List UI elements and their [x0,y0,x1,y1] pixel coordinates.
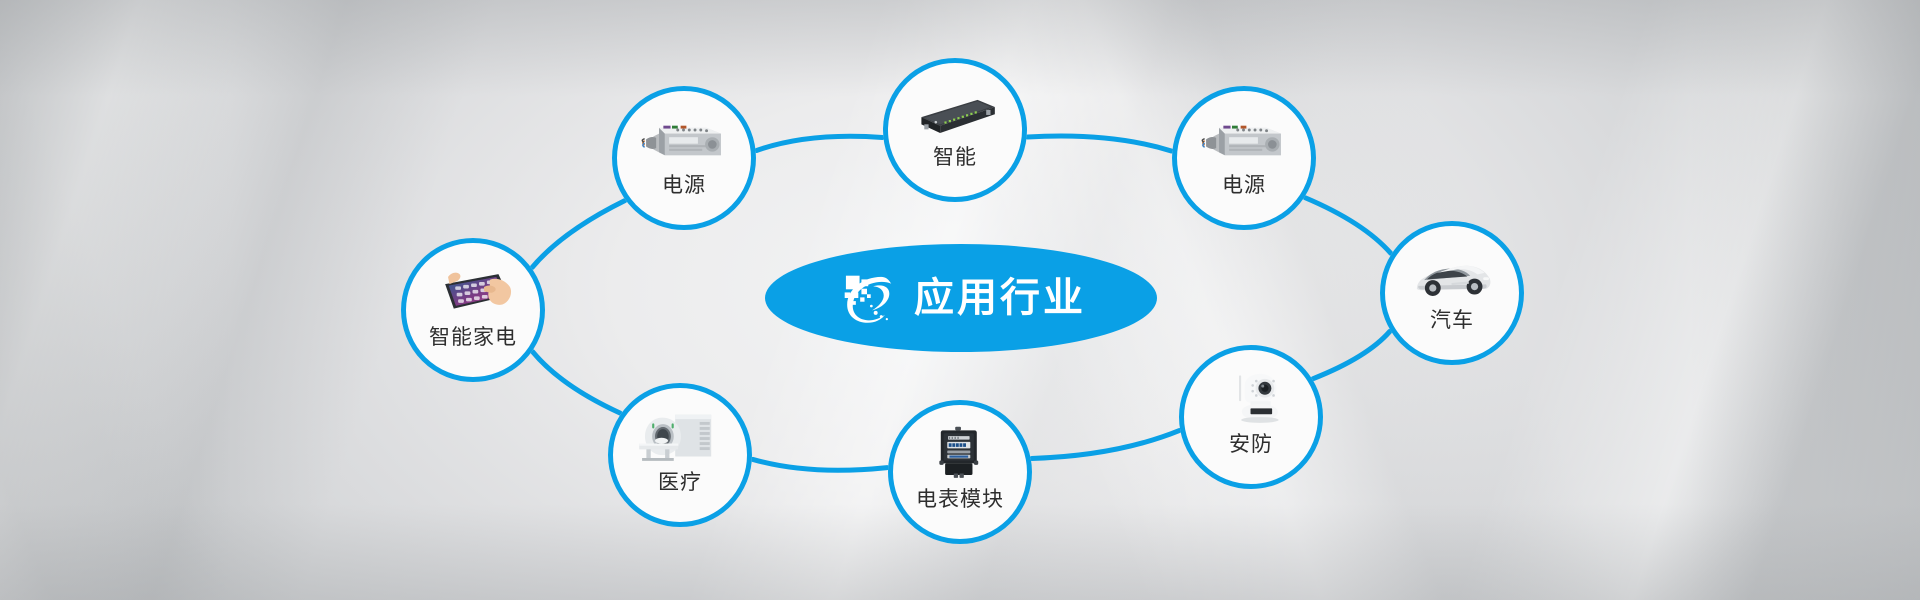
industry-node-automotive[interactable]: 汽车 [1380,221,1524,365]
industry-node-label: 电源 [662,175,706,196]
connector-automotive-to-security [1313,331,1390,378]
orbit-pixel-logo-icon [836,267,898,329]
connector-smart-home-to-power-left [532,201,625,268]
industry-node-security[interactable]: 安防 [1179,345,1323,489]
industry-node-medical[interactable]: 医疗 [608,383,752,527]
center-badge: 应用行业 [765,244,1157,352]
power-supply-icon [636,112,731,170]
touch-tablet-icon [425,264,520,322]
connector-security-to-meter-module [1032,431,1180,459]
industry-node-label: 电表模块 [916,489,1004,510]
industry-node-label: 汽车 [1430,310,1474,331]
sports-car-icon [1404,247,1499,305]
connector-meter-module-to-medical [753,459,887,470]
power-supply-icon [1196,112,1291,170]
industry-node-label: 智能家电 [429,327,517,348]
industry-node-label: 医疗 [658,472,702,493]
center-badge-title: 应用行业 [914,278,1086,318]
ct-scanner-icon [632,409,727,467]
rack-server-icon [907,84,1002,142]
industry-node-smart[interactable]: 智能 [883,58,1027,202]
connector-power-left-to-smart [757,136,883,150]
application-industries-banner: 电源 智能 [0,0,1920,600]
industry-node-label: 智能 [933,147,977,168]
industry-node-meter-module[interactable]: 电表模块 [888,400,1032,544]
connector-medical-to-smart-home [533,352,620,413]
ip-camera-icon [1203,371,1298,429]
industry-node-power-right[interactable]: 电源 [1172,86,1316,230]
connector-power-right-to-automotive [1305,198,1391,254]
industry-node-label: 安防 [1229,434,1273,455]
electric-meter-icon [912,426,1007,484]
industry-node-smart-home[interactable]: 智能家电 [401,238,545,382]
industry-node-label: 电源 [1222,175,1266,196]
connector-smart-to-power-right [1028,136,1172,151]
industry-node-power-left[interactable]: 电源 [612,86,756,230]
